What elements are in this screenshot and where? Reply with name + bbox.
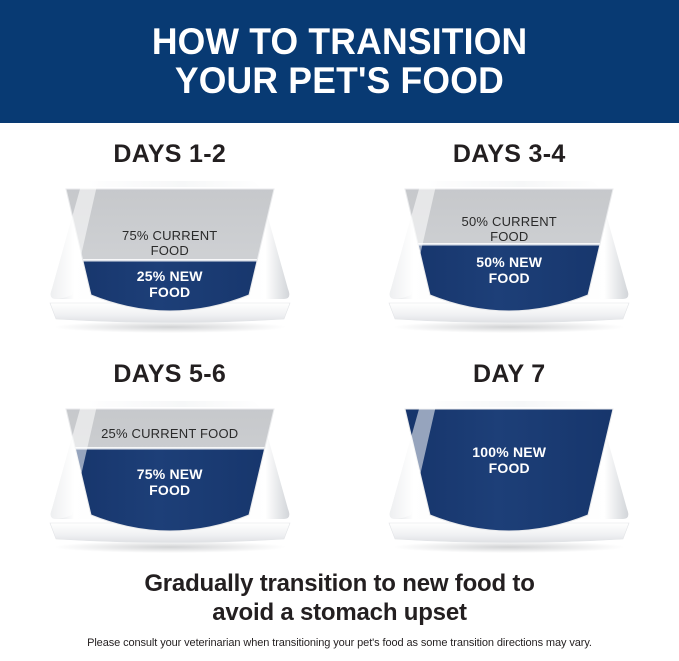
step-title: DAYS 5-6 [113, 362, 226, 387]
header-banner: HOW TO TRANSITION YOUR PET'S FOOD [0, 0, 679, 123]
bowl-day-7: 100% NEW FOOD [377, 397, 641, 555]
step-card-day-7: DAY 7 [340, 343, 679, 563]
tagline-line-2: avoid a stomach upset [0, 599, 679, 628]
step-title: DAYS 3-4 [453, 142, 566, 167]
bowl-days-3-4: 50% CURRENT FOOD 50% NEW FOOD [377, 177, 641, 335]
bowl-graphic [38, 397, 302, 555]
step-title: DAYS 1-2 [113, 142, 226, 167]
bowl-graphic [377, 177, 641, 335]
step-card-days-5-6: DAYS 5-6 [0, 343, 340, 563]
header-title-line-2: YOUR PET'S FOOD [175, 62, 504, 100]
step-title: DAY 7 [473, 362, 545, 387]
bowl-days-5-6: 25% CURRENT FOOD 75% NEW FOOD [38, 397, 302, 555]
tagline: Gradually transition to new food to avoi… [0, 570, 679, 628]
tagline-line-1: Gradually transition to new food to [0, 570, 679, 599]
bowl-graphic [38, 177, 302, 335]
header-title-line-1: HOW TO TRANSITION [152, 23, 528, 61]
infographic-page: HOW TO TRANSITION YOUR PET'S FOOD DAYS 1… [0, 0, 679, 661]
step-card-days-1-2: DAYS 1-2 [0, 123, 340, 343]
step-card-days-3-4: DAYS 3-4 [340, 123, 679, 343]
disclaimer-text: Please consult your veterinarian when tr… [0, 637, 679, 649]
bowl-graphic [377, 397, 641, 555]
transition-steps-grid: DAYS 1-2 [0, 123, 679, 563]
bowl-days-1-2: 75% CURRENT FOOD 25% NEW FOOD [38, 177, 302, 335]
